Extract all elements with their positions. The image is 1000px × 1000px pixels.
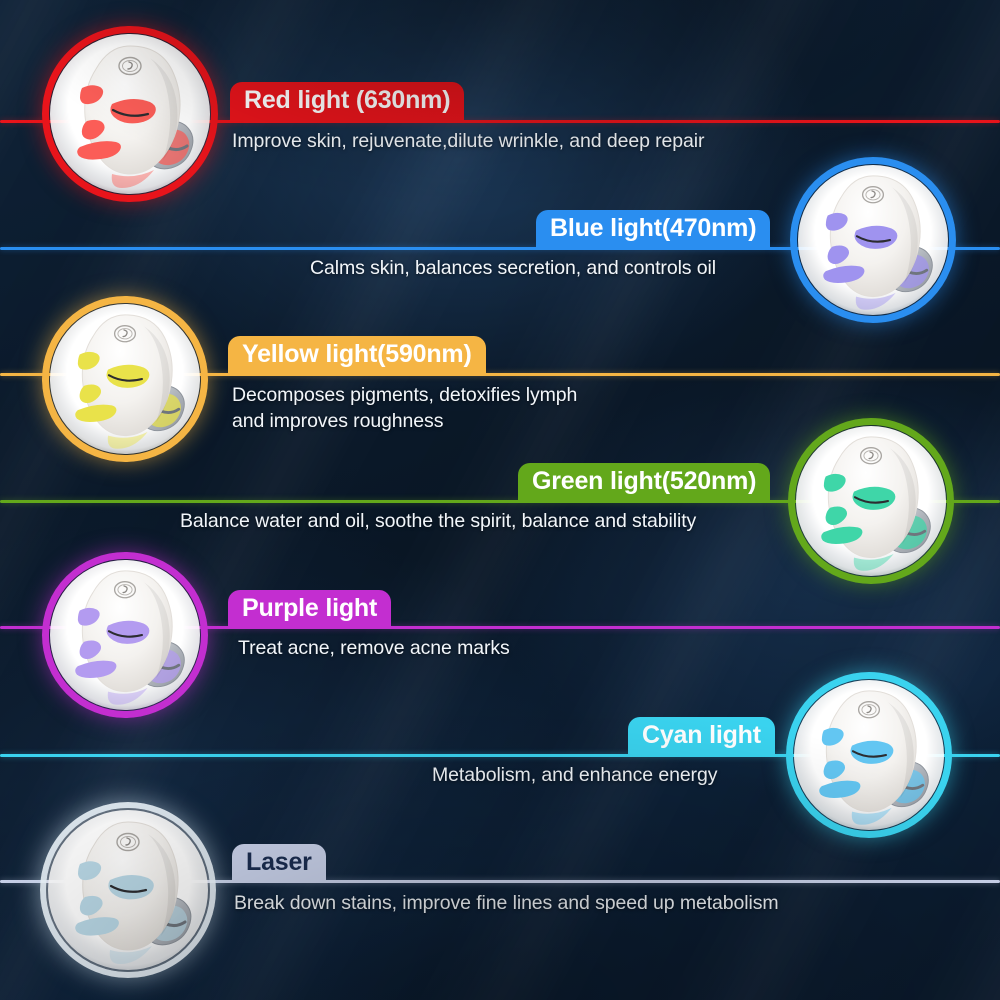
description-green-light: Balance water and oil, soothe the spirit… (180, 509, 940, 535)
description-laser: Break down stains, improve fine lines an… (234, 891, 954, 917)
infographic-page: Red light (630nm) Improve skin, rejuvena… (0, 0, 1000, 1000)
label-red-light-text: Red light (630nm) (244, 86, 450, 115)
label-green-light[interactable]: Green light(520nm) (518, 463, 770, 502)
label-yellow-light-text: Yellow light(590nm) (242, 340, 472, 369)
label-purple-light-text: Purple light (242, 594, 377, 623)
description-blue-light: Calms skin, balances secretion, and cont… (310, 256, 930, 282)
label-laser-text: Laser (246, 848, 312, 877)
label-purple-light[interactable]: Purple light (228, 590, 391, 629)
label-blue-light-text: Blue light(470nm) (550, 214, 756, 243)
label-cyan-light[interactable]: Cyan light (628, 717, 775, 756)
label-blue-light[interactable]: Blue light(470nm) (536, 210, 770, 249)
label-laser[interactable]: Laser (232, 844, 326, 883)
description-purple-light: Treat acne, remove acne marks (238, 636, 798, 662)
label-yellow-light[interactable]: Yellow light(590nm) (228, 336, 486, 375)
label-red-light[interactable]: Red light (630nm) (230, 82, 464, 121)
description-cyan-light: Metabolism, and enhance energy (432, 763, 952, 789)
label-green-light-text: Green light(520nm) (532, 467, 756, 496)
description-red-light: Improve skin, rejuvenate,dilute wrinkle,… (232, 129, 972, 155)
description-yellow-light: Decomposes pigments, detoxifies lymph an… (232, 383, 872, 434)
label-cyan-light-text: Cyan light (642, 721, 761, 750)
captions-layer: Red light (630nm) Improve skin, rejuvena… (0, 0, 1000, 1000)
